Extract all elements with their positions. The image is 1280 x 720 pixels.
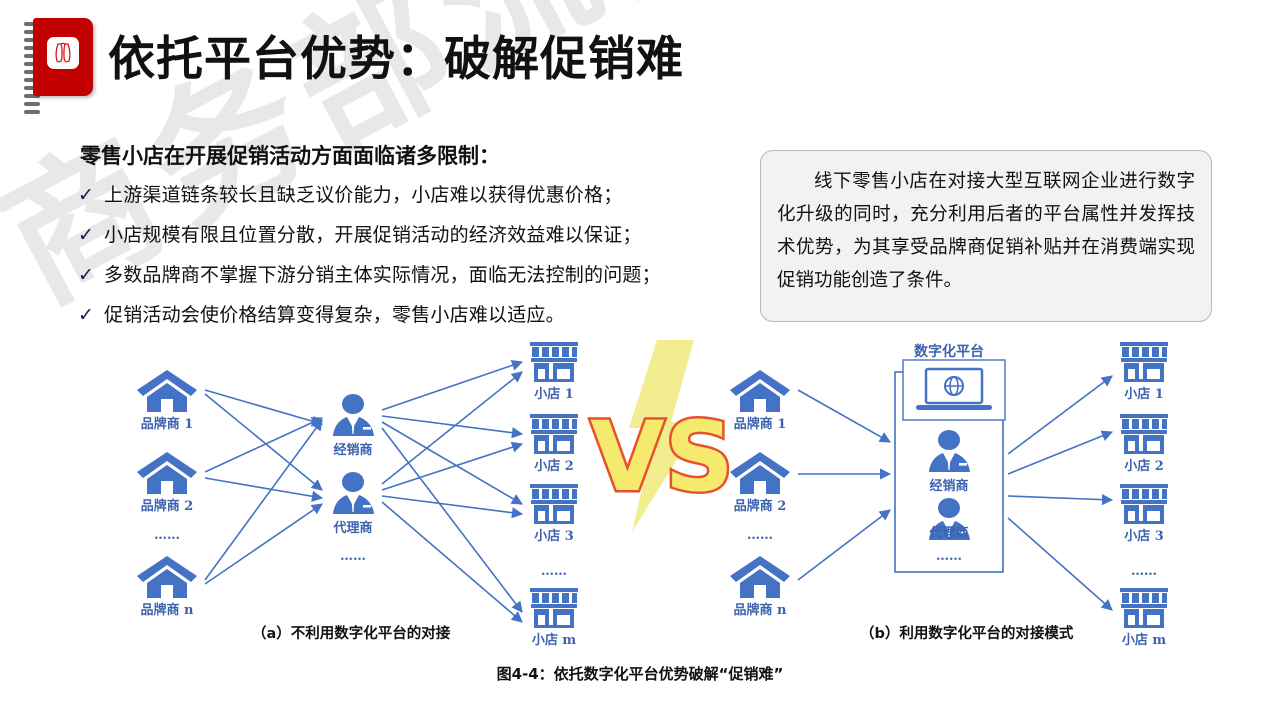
check-icon: ✓ — [78, 182, 104, 208]
node-label-ellipsis: …… — [936, 549, 962, 564]
digital-platform-box: 数字化平台 经销商 代理商 …… — [895, 343, 1005, 572]
node-brand-1: 品牌商 1 — [730, 370, 790, 432]
slide: 商务部流通产业促进中心 依托平台优势：破解促销难 零售小店在开展促销活动方面面临… — [0, 0, 1280, 720]
node-label: 代理商 — [928, 525, 968, 541]
node-label: 小店 m — [532, 632, 577, 648]
list-item-label: 上游渠道链条较长且缺乏议价能力，小店难以获得优惠价格； — [104, 182, 622, 208]
list-item: ✓ 促销活动会使价格结算变得复杂，零售小店难以适应。 — [78, 302, 738, 328]
panel-a-edges — [205, 390, 322, 584]
platform-title: 数字化平台 — [914, 343, 984, 360]
node-brand-2: 品牌商 2 — [137, 452, 197, 514]
notebook-cover — [33, 18, 93, 96]
node-label: 经销商 — [929, 478, 968, 494]
callout-box: 线下零售小店在对接大型互联网企业进行数字化升级的同时，充分利用后者的平台属性并发… — [760, 150, 1212, 322]
node-label: 小店 1 — [534, 386, 574, 402]
slide-header: 依托平台优势：破解促销难 — [0, 0, 1280, 115]
check-icon: ✓ — [78, 302, 104, 328]
node-agent: 代理商 — [332, 472, 374, 536]
vs-badge: VS — [590, 340, 733, 532]
panel-b-edges-out — [1008, 376, 1112, 610]
node-label: 品牌商 n — [734, 602, 788, 618]
list-item-label: 小店规模有限且位置分散，开展促销活动的经济效益难以保证； — [104, 222, 642, 248]
node-brand-2: 品牌商 2 — [730, 452, 790, 514]
node-distributor: 经销商 — [333, 394, 374, 458]
figure-title: 图4-4：依托数字化平台优势破解“促销难” — [0, 663, 1280, 684]
node-label: 小店 2 — [1124, 458, 1164, 474]
list-item-label: 多数品牌商不掌握下游分销主体实际情况，面临无法控制的问题； — [104, 262, 661, 288]
lead-heading: 零售小店在开展促销活动方面面临诸多限制： — [80, 140, 500, 170]
check-icon: ✓ — [78, 222, 104, 248]
node-store-3: 小店 3 — [1120, 484, 1168, 544]
bullet-list: ✓ 上游渠道链条较长且缺乏议价能力，小店难以获得优惠价格； ✓ 小店规模有限且位… — [78, 182, 738, 342]
node-label: 品牌商 1 — [141, 416, 194, 432]
node-store-m: 小店 m — [1120, 588, 1168, 648]
check-icon: ✓ — [78, 262, 104, 288]
node-label: 品牌商 2 — [734, 498, 787, 514]
list-item: ✓ 小店规模有限且位置分散，开展促销活动的经济效益难以保证； — [78, 222, 738, 248]
node-store-m: 小店 m — [530, 588, 578, 648]
node-label: 经销商 — [333, 442, 372, 458]
notebook-emblem — [47, 37, 79, 69]
node-store-1: 小店 1 — [530, 342, 578, 402]
callout-text: 线下零售小店在对接大型互联网企业进行数字化升级的同时，充分利用后者的平台属性并发… — [777, 165, 1195, 297]
panel-a: 品牌商 1 品牌商 2 …… 品牌商 n 经销商 代 — [137, 342, 578, 648]
node-brand-n: 品牌商 n — [137, 556, 197, 618]
red-notebook-icon — [24, 18, 96, 96]
node-label: 品牌商 2 — [141, 498, 194, 514]
node-label: 小店 3 — [534, 528, 574, 544]
node-label: 小店 2 — [534, 458, 574, 474]
figure-diagram: 品牌商 1 品牌商 2 …… 品牌商 n 经销商 代 — [0, 332, 1280, 692]
panel-b: 品牌商 1 品牌商 2 …… 品牌商 n 数字化平台 — [730, 342, 1168, 648]
list-item: ✓ 多数品牌商不掌握下游分销主体实际情况，面临无法控制的问题； — [78, 262, 738, 288]
node-store-1: 小店 1 — [1120, 342, 1168, 402]
page-title: 依托平台优势：破解促销难 — [108, 20, 684, 89]
node-label-ellipsis: …… — [541, 564, 567, 579]
node-label: 小店 m — [1122, 632, 1167, 648]
list-item-label: 促销活动会使价格结算变得复杂，零售小店难以适应。 — [104, 302, 565, 328]
node-label-ellipsis: …… — [154, 528, 180, 543]
list-item: ✓ 上游渠道链条较长且缺乏议价能力，小店难以获得优惠价格； — [78, 182, 738, 208]
node-store-3: 小店 3 — [530, 484, 578, 544]
node-store-2: 小店 2 — [530, 414, 578, 474]
vs-label: VS — [590, 401, 733, 513]
node-label-ellipsis: …… — [1131, 564, 1157, 579]
node-label: 小店 3 — [1124, 528, 1164, 544]
node-brand-n: 品牌商 n — [730, 556, 790, 618]
node-store-2: 小店 2 — [1120, 414, 1168, 474]
panel-b-edges-in — [798, 390, 890, 580]
node-label: 小店 1 — [1124, 386, 1164, 402]
node-label: 品牌商 1 — [734, 416, 787, 432]
node-label-ellipsis: …… — [340, 549, 366, 564]
panel-a-edges-2 — [382, 362, 522, 622]
node-label: 代理商 — [332, 520, 372, 536]
node-brand-1: 品牌商 1 — [137, 370, 197, 432]
node-label: 品牌商 n — [141, 602, 195, 618]
node-label-ellipsis: …… — [747, 528, 773, 543]
